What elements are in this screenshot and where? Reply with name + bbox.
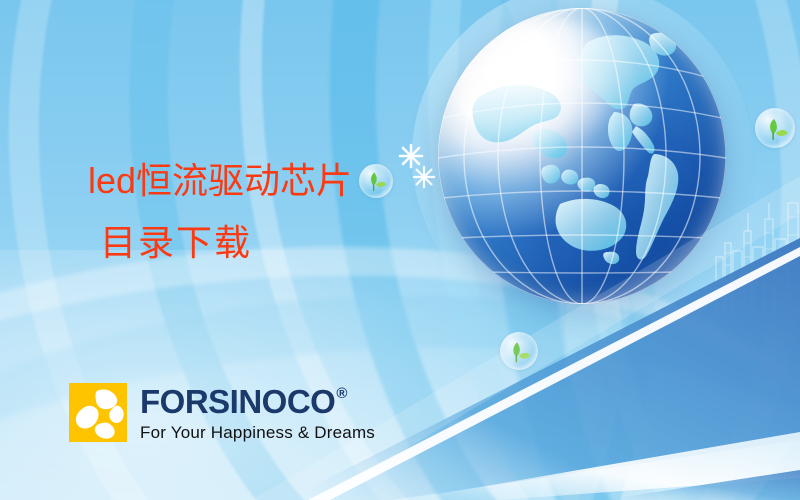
green-leaves-icon xyxy=(359,164,393,198)
snowflake-lower xyxy=(412,165,436,189)
promo-banner: led恒流驱动芯片 目录下载 FORSINOCO ® For Your Happ… xyxy=(0,0,800,500)
logo-wordmark: FORSINOCO ® xyxy=(140,385,375,418)
headline: led恒流驱动芯片 目录下载 xyxy=(88,163,352,261)
leaf-bubble-lower xyxy=(500,332,538,370)
earth-globe xyxy=(438,8,726,304)
four-petal-pinwheel-icon xyxy=(69,383,127,442)
green-leaves-icon xyxy=(500,332,538,370)
leaf-bubble-center xyxy=(359,164,393,198)
logo-mark xyxy=(69,383,127,442)
logo-text: FORSINOCO ® For Your Happiness & Dreams xyxy=(140,385,375,441)
headline-line-2: 目录下载 xyxy=(100,225,352,261)
headline-line-1: led恒流驱动芯片 xyxy=(88,163,352,199)
logo-tagline: For Your Happiness & Dreams xyxy=(140,424,375,441)
logo-wordmark-text: FORSINOCO xyxy=(140,385,335,418)
green-leaves-icon xyxy=(755,108,795,148)
registered-trademark-symbol: ® xyxy=(336,386,347,401)
city-skyline xyxy=(714,195,800,315)
globe-rim-light xyxy=(438,8,726,304)
company-logo[interactable]: FORSINOCO ® For Your Happiness & Dreams xyxy=(69,383,375,442)
leaf-bubble-right xyxy=(755,108,795,148)
